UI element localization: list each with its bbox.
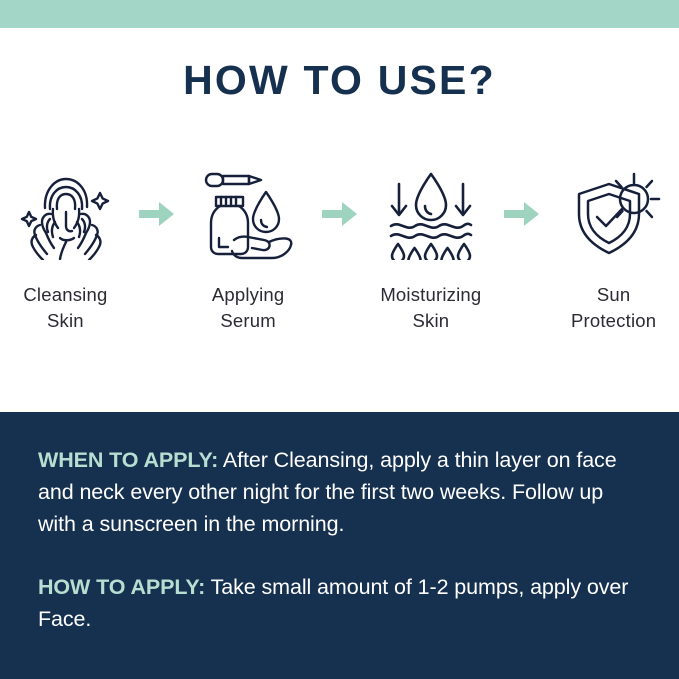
serum-dropper-bottle-icon bbox=[200, 168, 296, 260]
top-accent-band bbox=[0, 0, 679, 28]
step-label-line2: Skin bbox=[412, 310, 449, 331]
how-to-apply-label: HOW TO APPLY: bbox=[38, 575, 205, 599]
step-label-line1: Applying bbox=[212, 284, 285, 305]
arrow-right-icon bbox=[131, 168, 183, 260]
arrow-right-icon bbox=[496, 168, 548, 260]
step-label-line2: Serum bbox=[220, 310, 276, 331]
step-label-sun-protection: Sun Protection bbox=[571, 282, 656, 334]
step-label-moisturizing-skin: Moisturizing Skin bbox=[380, 282, 481, 334]
arrow-right-icon bbox=[314, 168, 366, 260]
step-label-line2: Skin bbox=[47, 310, 84, 331]
when-to-apply-label: WHEN TO APPLY: bbox=[38, 448, 218, 472]
shield-sun-icon bbox=[566, 168, 662, 260]
step-label-line1: Cleansing bbox=[23, 284, 107, 305]
how-to-use-section: HOW TO USE? bbox=[0, 28, 679, 412]
moisturizing-skin-icon bbox=[383, 168, 479, 260]
steps-row: Cleansing Skin bbox=[0, 168, 679, 378]
step-sun-protection: Sun Protection bbox=[548, 168, 679, 334]
face-washing-icon bbox=[17, 168, 113, 260]
when-to-apply-paragraph: WHEN TO APPLY: After Cleansing, apply a … bbox=[38, 444, 641, 540]
page-title: HOW TO USE? bbox=[0, 57, 679, 104]
step-applying-serum: Applying Serum bbox=[183, 168, 314, 334]
step-label-line2: Protection bbox=[571, 310, 656, 331]
infographic-page: HOW TO USE? bbox=[0, 0, 679, 679]
step-label-applying-serum: Applying Serum bbox=[212, 282, 285, 334]
how-to-apply-paragraph: HOW TO APPLY: Take small amount of 1-2 p… bbox=[38, 571, 641, 635]
step-cleansing-skin: Cleansing Skin bbox=[0, 168, 131, 334]
step-moisturizing-skin: Moisturizing Skin bbox=[365, 168, 496, 334]
step-label-cleansing-skin: Cleansing Skin bbox=[23, 282, 107, 334]
instructions-section: WHEN TO APPLY: After Cleansing, apply a … bbox=[0, 412, 679, 679]
step-label-line1: Moisturizing bbox=[380, 284, 481, 305]
step-label-line1: Sun bbox=[597, 284, 631, 305]
